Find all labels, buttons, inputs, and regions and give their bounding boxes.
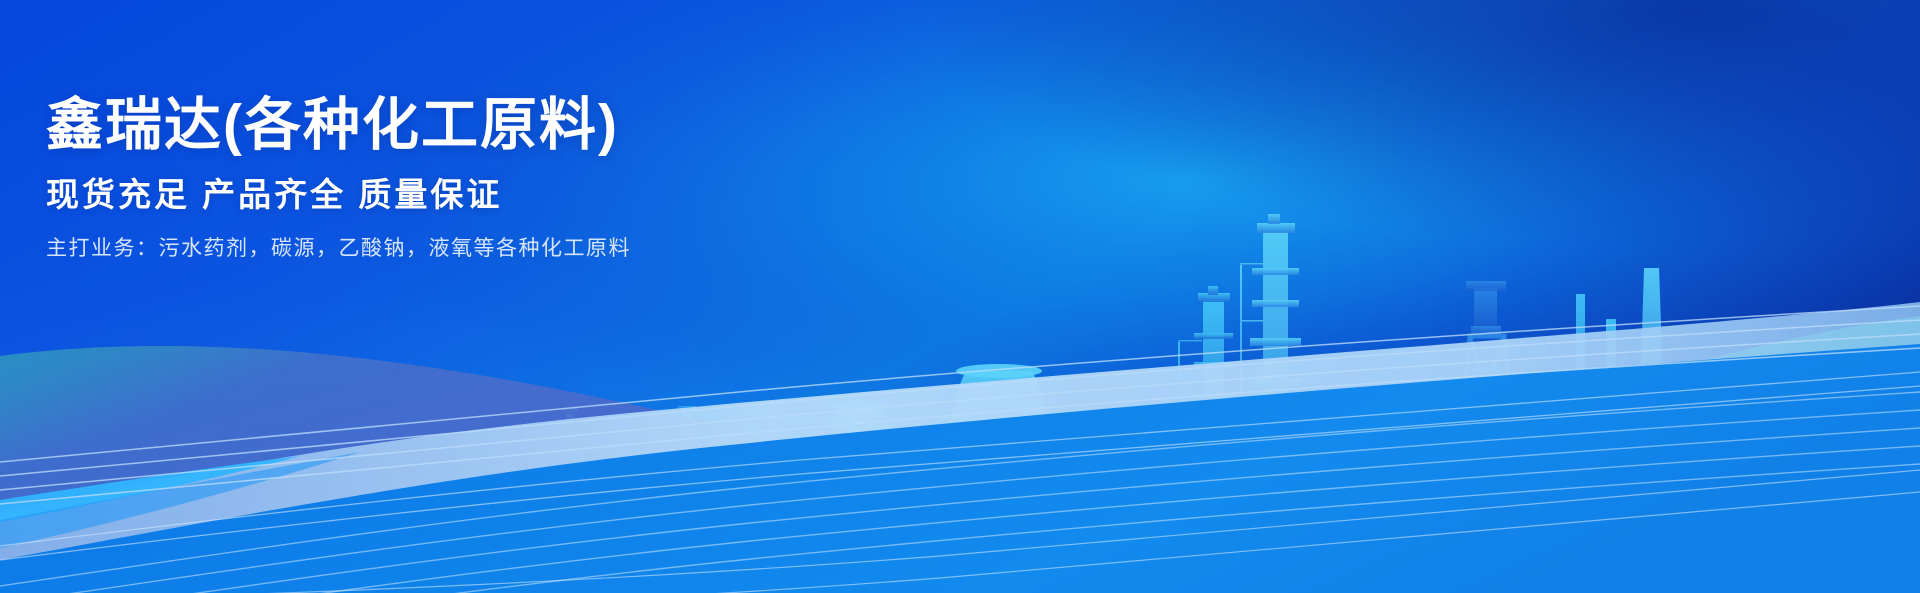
page-title: 鑫瑞达(各种化工原料) bbox=[46, 96, 631, 155]
banner-subheadline: 现货充足 产品齐全 质量保证 bbox=[46, 177, 631, 213]
promo-banner: 鑫瑞达(各种化工原料) 现货充足 产品齐全 质量保证 主打业务：污水药剂，碳源，… bbox=[0, 0, 1920, 593]
wave-hairlines bbox=[0, 0, 1920, 593]
banner-text-block: 鑫瑞达(各种化工原料) 现货充足 产品齐全 质量保证 主打业务：污水药剂，碳源，… bbox=[46, 96, 631, 261]
banner-tagline: 主打业务：污水药剂，碳源，乙酸钠，液氧等各种化工原料 bbox=[46, 236, 631, 261]
